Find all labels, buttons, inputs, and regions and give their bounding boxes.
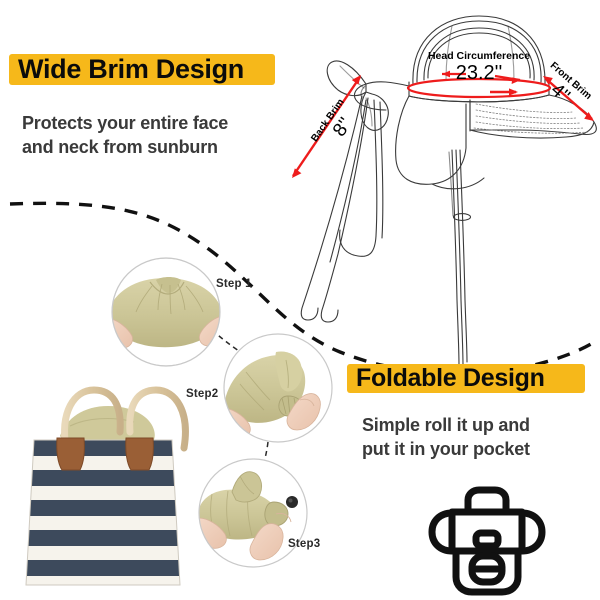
foldable-subtext: Simple roll it up and put it in your poc… (362, 414, 600, 462)
foldable-subtext-line2: put it in your pocket (362, 438, 600, 462)
front-brim-label: Front Brim (548, 60, 594, 102)
step-1-label: Step 1 (216, 278, 252, 290)
step-1-image (101, 258, 230, 366)
step-1-circle-frame (112, 258, 220, 366)
artwork-layer (0, 0, 600, 600)
wide-brim-subtext-line1: Protects your entire face (22, 112, 332, 136)
foldable-subtext-line1: Simple roll it up and (362, 414, 600, 438)
back-brim-value: 8'' (329, 114, 356, 141)
step-2-label: Step2 (186, 388, 218, 400)
wide-brim-heading-group: Wide Brim Design (18, 52, 244, 86)
striped-tote-bag (20, 390, 190, 598)
foldable-heading-group: Foldable Design (356, 362, 545, 394)
dashed-divider (10, 203, 596, 374)
wide-brim-subtext-line2: and neck from sunburn (22, 136, 332, 160)
hat-technical-drawing (301, 16, 596, 382)
front-brim-value: 4'' (547, 79, 574, 107)
foldable-heading: Foldable Design (356, 364, 545, 392)
infographic-canvas: Head Circumference 23.2'' Back Brim 8'' … (0, 0, 600, 600)
step-2-circle-frame (224, 334, 332, 442)
head-circumference-value: 23.2'' (456, 62, 503, 84)
wide-brim-heading: Wide Brim Design (18, 54, 244, 84)
head-circumference-label: Head Circumference (428, 50, 530, 62)
dimension-text-layer: Head Circumference 23.2'' Back Brim 8'' … (0, 0, 600, 600)
backpack-icon (432, 490, 542, 592)
step-3-label: Step3 (288, 538, 320, 550)
step-3-image (193, 459, 307, 567)
wide-brim-subtext: Protects your entire face and neck from … (22, 112, 332, 160)
dimension-annotations (292, 71, 594, 178)
step-connectors (212, 330, 268, 480)
step-3-circle-frame (199, 459, 307, 567)
step-2-image (217, 334, 332, 442)
